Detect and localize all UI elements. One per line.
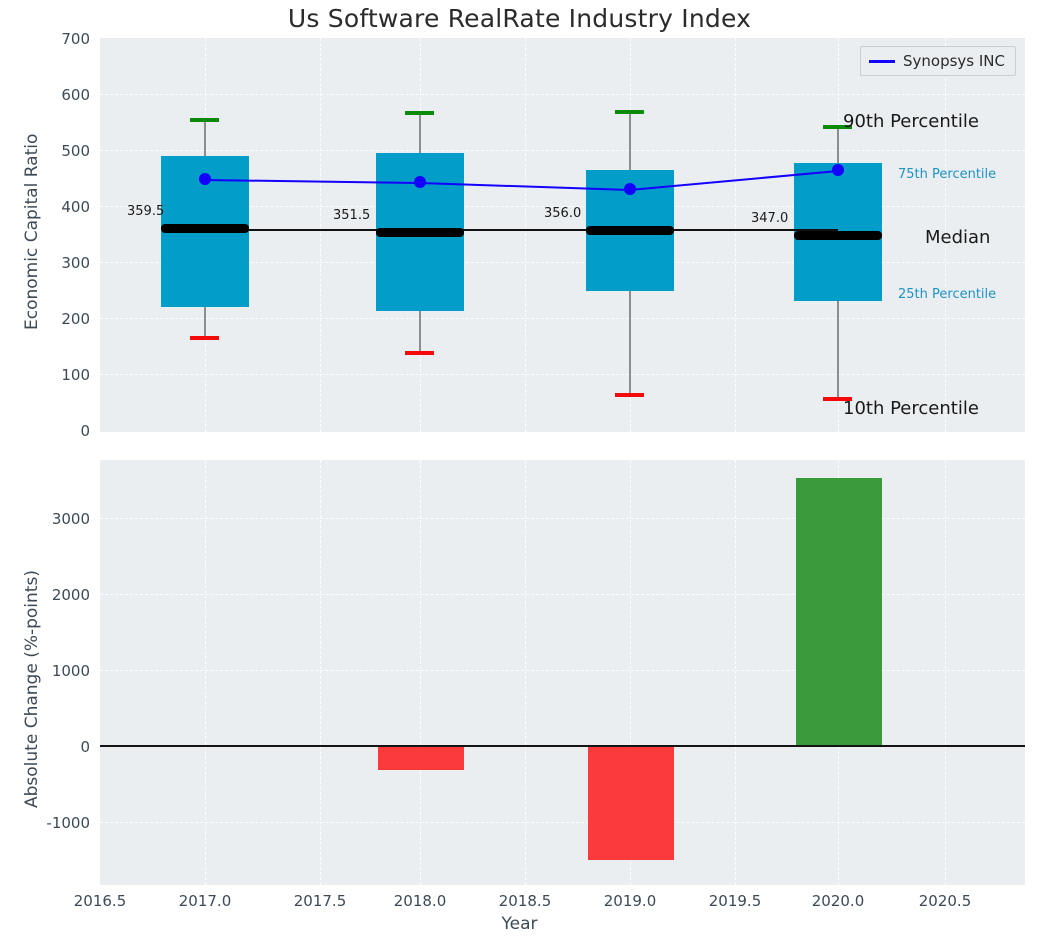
xtick-2017-5: 2017.5 bbox=[286, 892, 354, 910]
gridline-lower-1000 bbox=[100, 670, 1025, 671]
xtick-2018-0: 2018.0 bbox=[386, 892, 454, 910]
change-bar-2019 bbox=[588, 747, 674, 860]
median-bar-2019 bbox=[586, 226, 674, 235]
legend-label-synopsys: Synopsys INC bbox=[903, 52, 1005, 70]
gridline-upper-200 bbox=[100, 318, 1025, 319]
gridline-lower-x-2018 bbox=[420, 460, 421, 885]
annotation-75th-percentile: 75th Percentile bbox=[898, 167, 996, 182]
median-bar-2020 bbox=[794, 231, 882, 240]
gridline-upper-100 bbox=[100, 374, 1025, 375]
annotation-25th-percentile: 25th Percentile bbox=[898, 287, 996, 302]
gridline-lower-x-2017-5 bbox=[320, 460, 321, 885]
median-connector bbox=[205, 229, 838, 231]
cap-90th-2018 bbox=[405, 111, 434, 115]
upper-y-axis-label: Economic Capital Ratio bbox=[22, 134, 42, 330]
ytick-upper-700: 700 bbox=[28, 30, 90, 48]
gridline-lower-2000 bbox=[100, 594, 1025, 595]
gridline-upper-500 bbox=[100, 150, 1025, 151]
median-value-2017: 359.5 bbox=[127, 204, 164, 219]
gridline-lower-3000 bbox=[100, 518, 1025, 519]
gridline-lower-x-2018-5 bbox=[525, 460, 526, 885]
synopsys-point-2017 bbox=[199, 173, 211, 185]
xtick-2019-0: 2019.0 bbox=[596, 892, 664, 910]
change-bar-2020 bbox=[796, 478, 882, 745]
gridline-lower-minus1000 bbox=[100, 822, 1025, 823]
ytick-lower-minus1000: -1000 bbox=[18, 814, 90, 832]
gridline-upper-600 bbox=[100, 94, 1025, 95]
ytick-lower-3000: 3000 bbox=[18, 510, 90, 528]
gridline-lower-x-2017 bbox=[205, 460, 206, 885]
annotation-10th-percentile: 10th Percentile bbox=[843, 398, 979, 419]
chart-figure: Us Software RealRate Industry Index 700 … bbox=[0, 0, 1039, 942]
chart-title: Us Software RealRate Industry Index bbox=[0, 4, 1039, 33]
cap-90th-2019 bbox=[615, 110, 644, 114]
annotation-median: Median bbox=[925, 227, 990, 248]
annotation-90th-percentile: 90th Percentile bbox=[843, 111, 979, 132]
change-bar-2018 bbox=[378, 747, 464, 770]
xtick-2017-0: 2017.0 bbox=[171, 892, 239, 910]
synopsys-point-2018 bbox=[414, 176, 426, 188]
xtick-2020-5: 2020.5 bbox=[911, 892, 979, 910]
cap-10th-2017 bbox=[190, 336, 219, 340]
chart-legend[interactable]: Synopsys INC bbox=[860, 46, 1016, 76]
ytick-upper-0: 0 bbox=[28, 422, 90, 440]
lower-y-axis-label: Absolute Change (%-points) bbox=[22, 570, 42, 808]
median-value-2019: 356.0 bbox=[544, 206, 581, 221]
cap-90th-2017 bbox=[190, 118, 219, 122]
gridline-upper-x-2018-5 bbox=[525, 38, 526, 432]
legend-line-swatch bbox=[869, 60, 895, 63]
ytick-upper-600: 600 bbox=[28, 86, 90, 104]
xtick-2018-5: 2018.5 bbox=[491, 892, 559, 910]
median-bar-2018 bbox=[376, 228, 464, 237]
xtick-2016-5: 2016.5 bbox=[66, 892, 134, 910]
lower-zero-line bbox=[100, 745, 1025, 747]
ytick-upper-100: 100 bbox=[28, 366, 90, 384]
median-value-2018: 351.5 bbox=[333, 208, 370, 223]
cap-10th-2019 bbox=[615, 393, 644, 397]
gridline-lower-x-2020-5 bbox=[945, 460, 946, 885]
median-value-2020: 347.0 bbox=[751, 211, 788, 226]
x-axis-label: Year bbox=[0, 914, 1039, 934]
median-bar-2017 bbox=[161, 224, 249, 233]
gridline-lower-x-2019-5 bbox=[735, 460, 736, 885]
synopsys-point-2020 bbox=[832, 164, 844, 176]
synopsys-point-2019 bbox=[624, 183, 636, 195]
gridline-upper-x-2017-5 bbox=[320, 38, 321, 432]
xtick-2020-0: 2020.0 bbox=[804, 892, 872, 910]
cap-10th-2018 bbox=[405, 351, 434, 355]
xtick-2019-5: 2019.5 bbox=[701, 892, 769, 910]
gridline-upper-x-2019-5 bbox=[735, 38, 736, 432]
